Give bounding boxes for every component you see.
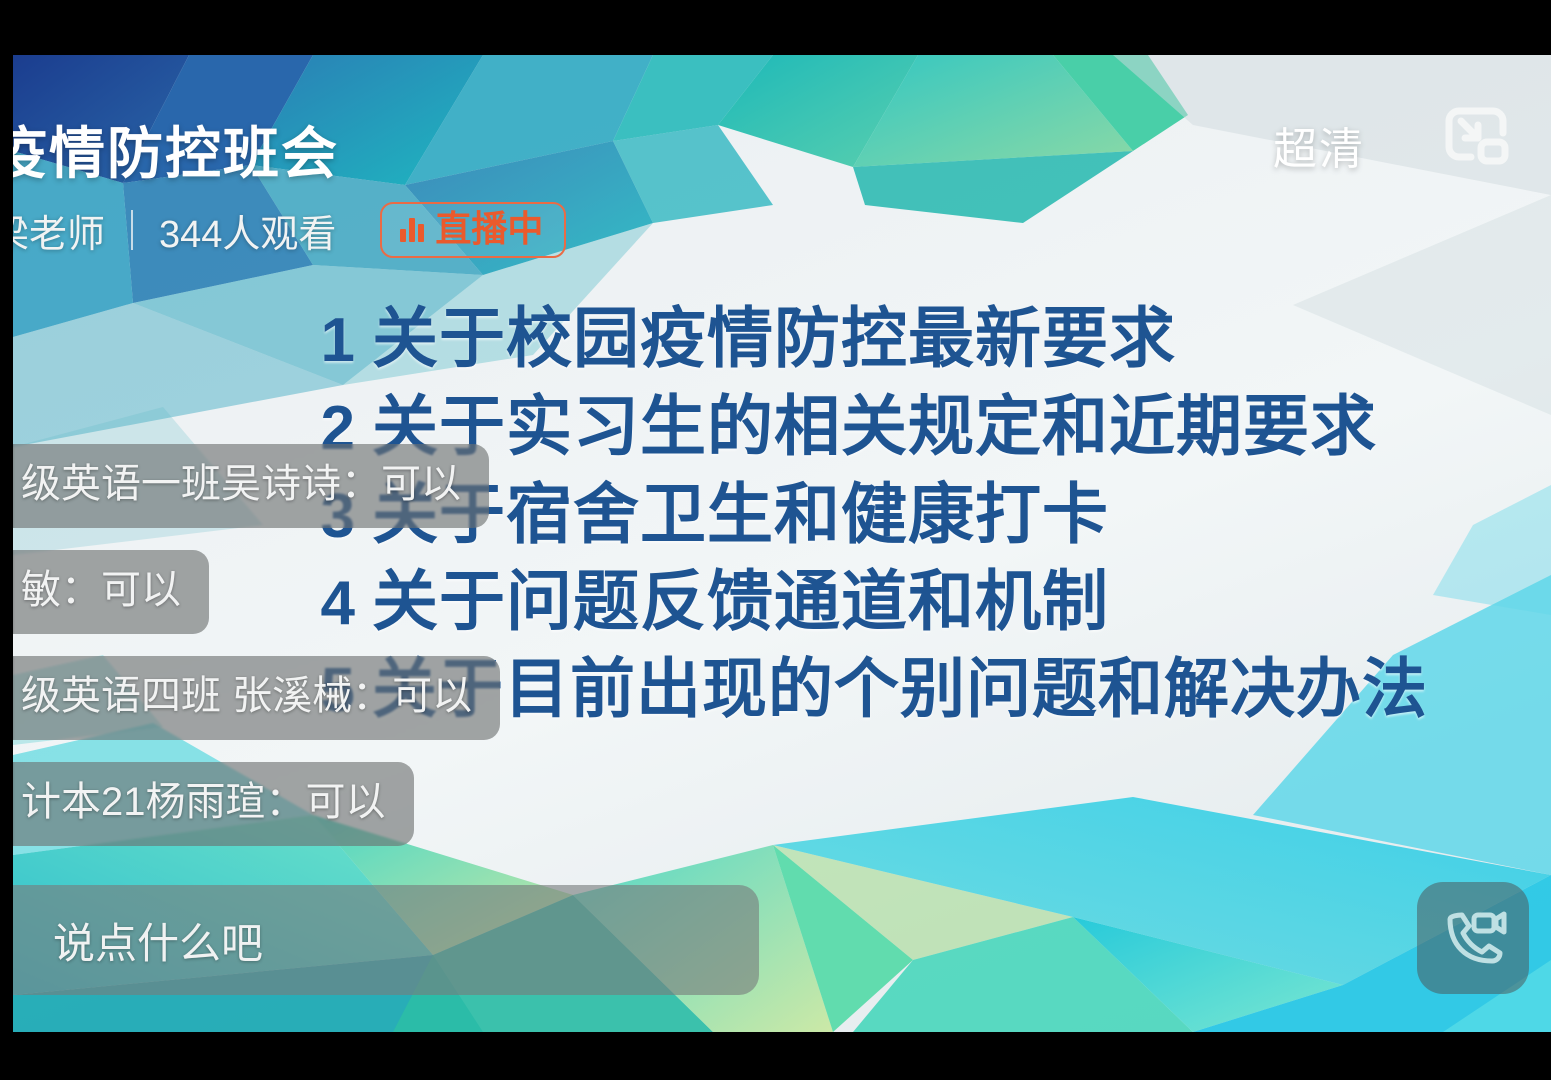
chat-input-placeholder: 说点什么吧	[13, 910, 263, 971]
slide-line-number: 1	[298, 300, 356, 382]
slide-line-text: 关于校园疫情防控最新要求	[372, 295, 1176, 383]
video-call-icon	[1438, 903, 1508, 973]
page-title: 疫情防控班会	[13, 109, 339, 190]
chat-input[interactable]: 说点什么吧	[13, 885, 759, 995]
picture-in-picture-icon	[1439, 99, 1513, 173]
video-call-button[interactable]	[1417, 882, 1529, 994]
chat-message-list[interactable]: 级英语一班吴诗诗：可以 敏：可以 级英语四班 张溪械：可以 计本21杨雨瑄：可以	[13, 444, 500, 846]
quality-selector[interactable]: 超清	[1273, 113, 1365, 177]
slide-line-text: 关于实习生的相关规定和近期要求	[372, 383, 1377, 471]
video-player-surface[interactable]: 疫情防控班会 梁老师 344人观看 直播中 超清	[13, 55, 1551, 1032]
bars-icon	[400, 216, 424, 242]
chat-message: 计本21杨雨瑄：可以	[13, 762, 414, 846]
chat-message: 级英语一班吴诗诗：可以	[13, 444, 489, 528]
stream-meta: 梁老师 344人观看 直播中	[13, 202, 566, 258]
chat-message: 级英语四班 张溪械：可以	[13, 656, 500, 740]
slide-line-text: 关于目前出现的个别问题和解决办法	[372, 646, 1428, 732]
picture-in-picture-button[interactable]	[1437, 97, 1515, 175]
live-stream-screen: 疫情防控班会 梁老师 344人观看 直播中 超清	[0, 0, 1551, 1080]
status-badge: 直播中	[380, 202, 566, 258]
meta-divider	[131, 210, 133, 250]
host-name: 梁老师	[13, 203, 105, 258]
chat-message: 敏：可以	[13, 550, 209, 634]
live-badge-label: 直播中	[435, 211, 543, 247]
slide-line: 1 关于校园疫情防控最新要求	[298, 295, 1548, 383]
viewer-count: 344人观看	[159, 203, 336, 258]
